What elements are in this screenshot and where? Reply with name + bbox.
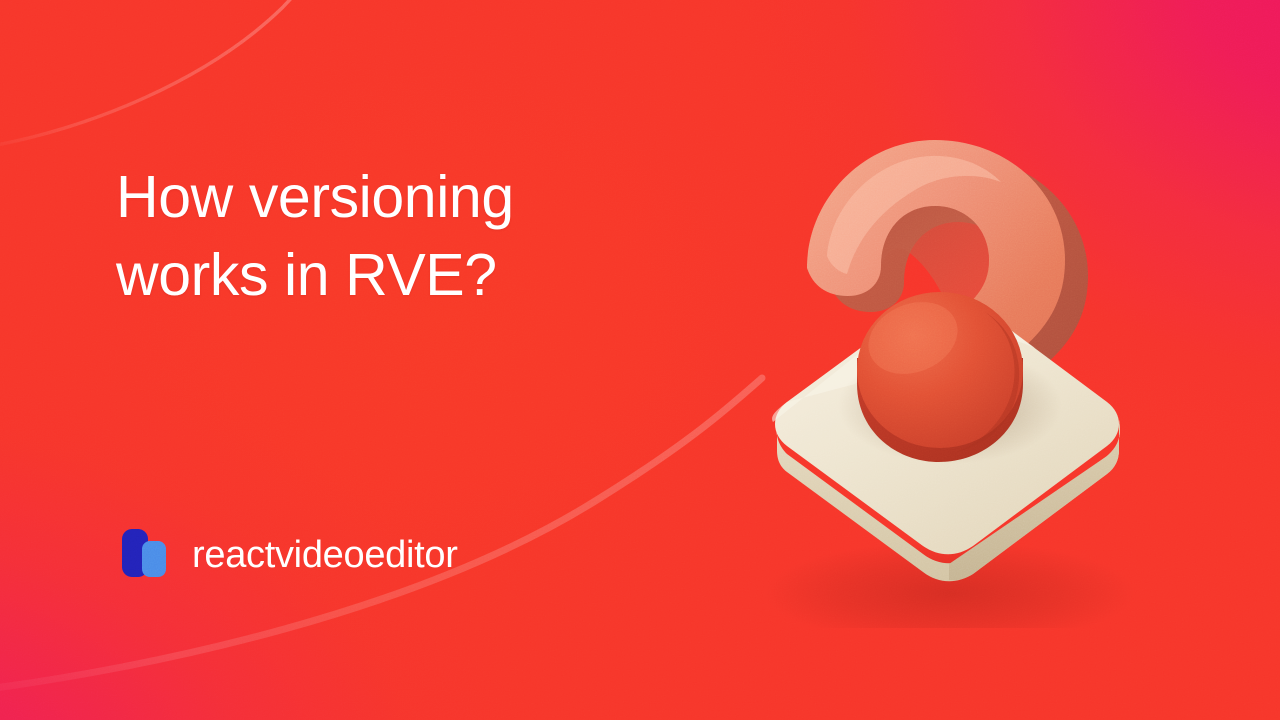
brand-logo-lockup[interactable]: reactvideoeditor: [116, 527, 458, 583]
question-mark-3d-icon: [735, 88, 1145, 628]
page-title: How versioning works in RVE?: [116, 158, 736, 314]
rve-logo-icon: [116, 527, 172, 583]
cover-canvas: How versioning works in RVE? reactvideoe…: [0, 0, 1280, 720]
knob-sphere: [857, 289, 1023, 462]
logo-shape-light: [142, 541, 166, 577]
brand-wordmark: reactvideoeditor: [192, 536, 458, 574]
